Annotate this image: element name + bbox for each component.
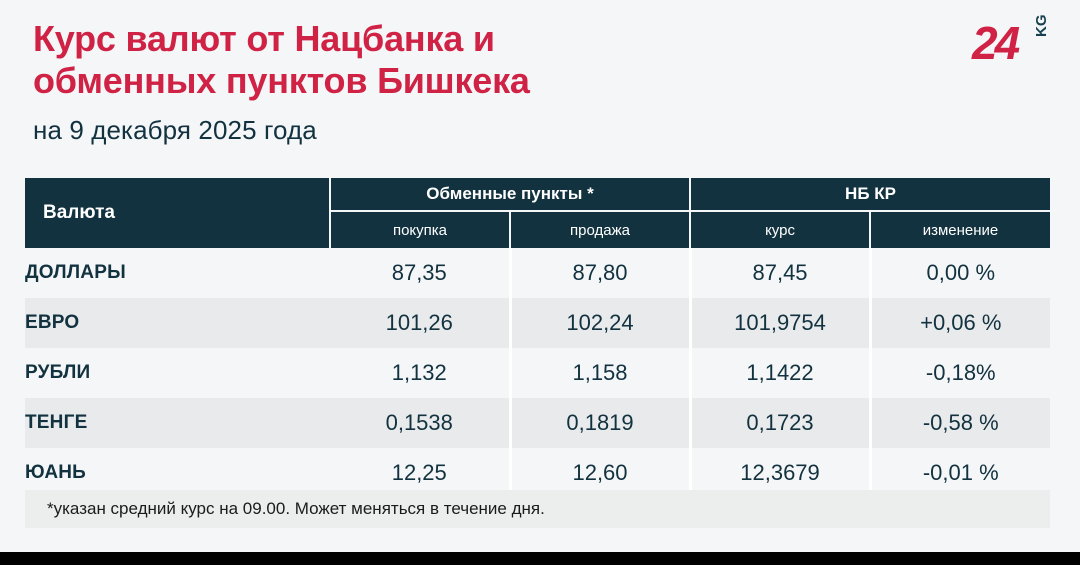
page-title-line-1: Курс валют от Нацбанка и bbox=[33, 18, 753, 60]
header: Курс валют от Нацбанка и обменных пункто… bbox=[0, 0, 1080, 170]
cell-nbkr-change: -0,18% bbox=[870, 348, 1050, 398]
footnote-bar: *указан средний курс на 09.00. Может мен… bbox=[25, 490, 1050, 528]
cell-nbkr-rate: 1,1422 bbox=[690, 348, 870, 398]
cell-nbkr-change: -0,58 % bbox=[870, 398, 1050, 448]
logo-24-mark: 24 bbox=[972, 20, 1017, 66]
header-group-nbkr: НБ КР bbox=[690, 178, 1050, 211]
header-currency: Валюта bbox=[25, 178, 330, 248]
cell-currency-name: ЕВРО bbox=[25, 298, 330, 348]
cell-exchange-sell: 87,80 bbox=[510, 248, 690, 298]
table-header-group-row: Валюта Обменные пункты * НБ КР bbox=[25, 178, 1050, 211]
cell-nbkr-change: 0,00 % bbox=[870, 248, 1050, 298]
cell-currency-name: ТЕНГЕ bbox=[25, 398, 330, 448]
header-sub-rate: курс bbox=[690, 211, 870, 248]
cell-exchange-buy: 0,1538 bbox=[330, 398, 510, 448]
table-head: Валюта Обменные пункты * НБ КР покупка п… bbox=[25, 178, 1050, 248]
cell-exchange-sell: 0,1819 bbox=[510, 398, 690, 448]
table-row: РУБЛИ 1,132 1,158 1,1422 -0,18% bbox=[25, 348, 1050, 398]
cell-exchange-buy: 1,132 bbox=[330, 348, 510, 398]
cell-exchange-buy: 101,26 bbox=[330, 298, 510, 348]
table-row: ТЕНГЕ 0,1538 0,1819 0,1723 -0,58 % bbox=[25, 398, 1050, 448]
logo-kg-suffix: KG bbox=[1034, 15, 1049, 38]
page-subtitle-date: на 9 декабря 2025 года bbox=[33, 115, 317, 146]
header-sub-change: изменение bbox=[870, 211, 1050, 248]
cell-nbkr-rate: 101,9754 bbox=[690, 298, 870, 348]
rates-table: Валюта Обменные пункты * НБ КР покупка п… bbox=[25, 178, 1050, 498]
cell-nbkr-change: +0,06 % bbox=[870, 298, 1050, 348]
cell-nbkr-rate: 0,1723 bbox=[690, 398, 870, 448]
table-row: ДОЛЛАРЫ 87,35 87,80 87,45 0,00 % bbox=[25, 248, 1050, 298]
page-title-line-2: обменных пунктов Бишкека bbox=[33, 60, 753, 102]
cell-currency-name: ДОЛЛАРЫ bbox=[25, 248, 330, 298]
table-row: ЕВРО 101,26 102,24 101,9754 +0,06 % bbox=[25, 298, 1050, 348]
cell-nbkr-rate: 87,45 bbox=[690, 248, 870, 298]
header-sub-sell: продажа bbox=[510, 211, 690, 248]
table-body: ДОЛЛАРЫ 87,35 87,80 87,45 0,00 % ЕВРО 10… bbox=[25, 248, 1050, 498]
header-group-exchange-points: Обменные пункты * bbox=[330, 178, 690, 211]
cell-currency-name: РУБЛИ bbox=[25, 348, 330, 398]
page-title: Курс валют от Нацбанка и обменных пункто… bbox=[33, 18, 753, 102]
footnote-text: *указан средний курс на 09.00. Может мен… bbox=[47, 499, 545, 519]
infographic-page: Курс валют от Нацбанка и обменных пункто… bbox=[0, 0, 1080, 565]
cell-exchange-sell: 1,158 bbox=[510, 348, 690, 398]
bottom-black-bar bbox=[0, 552, 1080, 565]
cell-exchange-buy: 87,35 bbox=[330, 248, 510, 298]
cell-exchange-sell: 102,24 bbox=[510, 298, 690, 348]
brand-logo: 24 KG bbox=[972, 20, 1062, 76]
rates-table-container: Валюта Обменные пункты * НБ КР покупка п… bbox=[25, 178, 1050, 498]
header-sub-buy: покупка bbox=[330, 211, 510, 248]
